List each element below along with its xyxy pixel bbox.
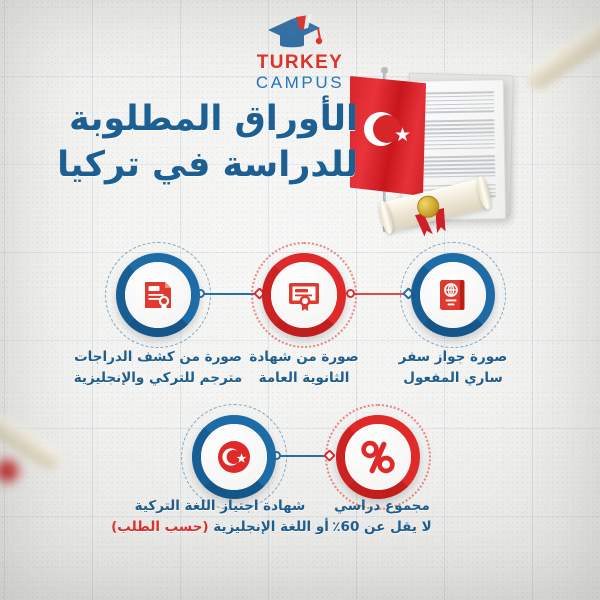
turkish-flag-circle-icon <box>214 437 254 477</box>
step-node-language-certificate[interactable] <box>192 415 276 499</box>
blurred-ribbon-bottom-left <box>0 456 22 486</box>
step-label-line2: لا يقل عن 60٪ <box>322 517 442 538</box>
percent-icon <box>358 437 398 477</box>
page-title-line2: للدراسة في تركيا <box>28 142 358 188</box>
step-label-line1: صورة من شهادة <box>246 347 362 368</box>
step-label-line2: مترجم للتركي والإنجليزية <box>68 368 248 389</box>
step-node-high-school-certificate[interactable] <box>262 253 346 337</box>
graduation-cap-icon <box>262 14 338 50</box>
step-label-passport: صورة جواز سفر ساري المفعول <box>395 347 511 389</box>
turkish-flag-icon <box>350 76 426 196</box>
flag-pole-knob <box>381 67 388 74</box>
step-label-high-school-certificate: صورة من شهادة الثانوية العامة <box>246 347 362 389</box>
passport-icon <box>435 276 471 314</box>
crescent-shape <box>364 112 398 146</box>
infographic-canvas: TURKEY CAMPUS <box>0 0 600 600</box>
step-label-line2-main: أو اللغة الإنجليزية <box>209 519 329 535</box>
certificate-document-icon <box>139 276 177 314</box>
step-label-line2: الثانوية العامة <box>246 368 362 389</box>
step-label-line1: صورة جواز سفر <box>395 347 511 368</box>
step-label-language-certificate: شهادة اجتياز اللغة التركية أو اللغة الإن… <box>110 496 330 538</box>
step-label-line2: ساري المفعول <box>395 368 511 389</box>
step-label-line1: مجموع دراسي <box>322 496 442 517</box>
step-label-grade-average: مجموع دراسي لا يقل عن 60٪ <box>322 496 442 538</box>
page-title-line1: الأوراق المطلوبة <box>69 99 358 139</box>
step-label-line1: صورة من كشف الدراجات <box>68 347 248 368</box>
step-node-grade-average[interactable] <box>336 415 420 499</box>
step-node-transcript[interactable] <box>116 253 200 337</box>
diploma-certificate-icon <box>285 276 323 314</box>
step-label-line1: شهادة اجتياز اللغة التركية <box>110 496 330 517</box>
step-label-line2: أو اللغة الإنجليزية (حسب الطلب) <box>110 517 330 538</box>
step-label-transcript: صورة من كشف الدراجات مترجم للتركي والإنج… <box>68 347 248 389</box>
step-node-passport[interactable] <box>411 253 495 337</box>
step-label-note: (حسب الطلب) <box>111 519 208 535</box>
hero-artwork <box>355 62 525 242</box>
page-title: الأوراق المطلوبة للدراسة في تركيا <box>28 96 358 188</box>
